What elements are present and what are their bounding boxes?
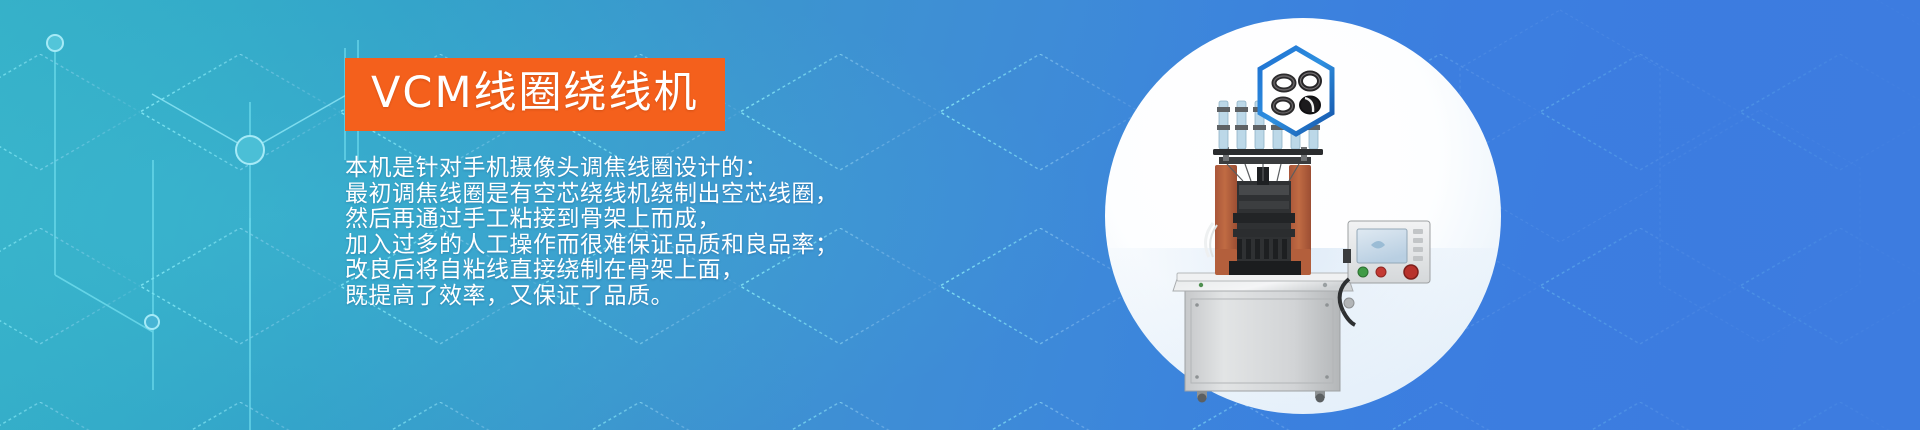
description-line-1: 本机是针对手机摄像头调焦线圈设计的：: [345, 156, 965, 182]
banner-text-column: VCM线圈绕线机 本机是针对手机摄像头调焦线圈设计的： 最初调焦线圈是有空芯绕线…: [345, 58, 965, 309]
description-line-4: 加入过多的人工操作而很难保证品质和良品率；: [345, 233, 965, 259]
description-line-5: 改良后将自粘线直接绕制在骨架上面，: [345, 258, 965, 284]
product-banner: VCM线圈绕线机 本机是针对手机摄像头调焦线圈设计的： 最初调焦线圈是有空芯绕线…: [0, 0, 1920, 430]
description-line-2: 最初调焦线圈是有空芯绕线机绕制出空芯线圈，: [345, 182, 965, 208]
hexagon-outline: [1260, 48, 1332, 134]
coil-products-hexagon-badge: [1255, 45, 1337, 137]
product-photo: [1105, 18, 1501, 414]
description-line-6: 既提高了效率，又保证了品质。: [345, 284, 965, 310]
description-line-3: 然后再通过手工粘接到骨架上而成，: [345, 207, 965, 233]
title-badge: VCM线圈绕线机: [345, 58, 725, 131]
description-block: 本机是针对手机摄像头调焦线圈设计的： 最初调焦线圈是有空芯绕线机绕制出空芯线圈，…: [345, 156, 965, 309]
page-title: VCM线圈绕线机: [371, 72, 699, 115]
